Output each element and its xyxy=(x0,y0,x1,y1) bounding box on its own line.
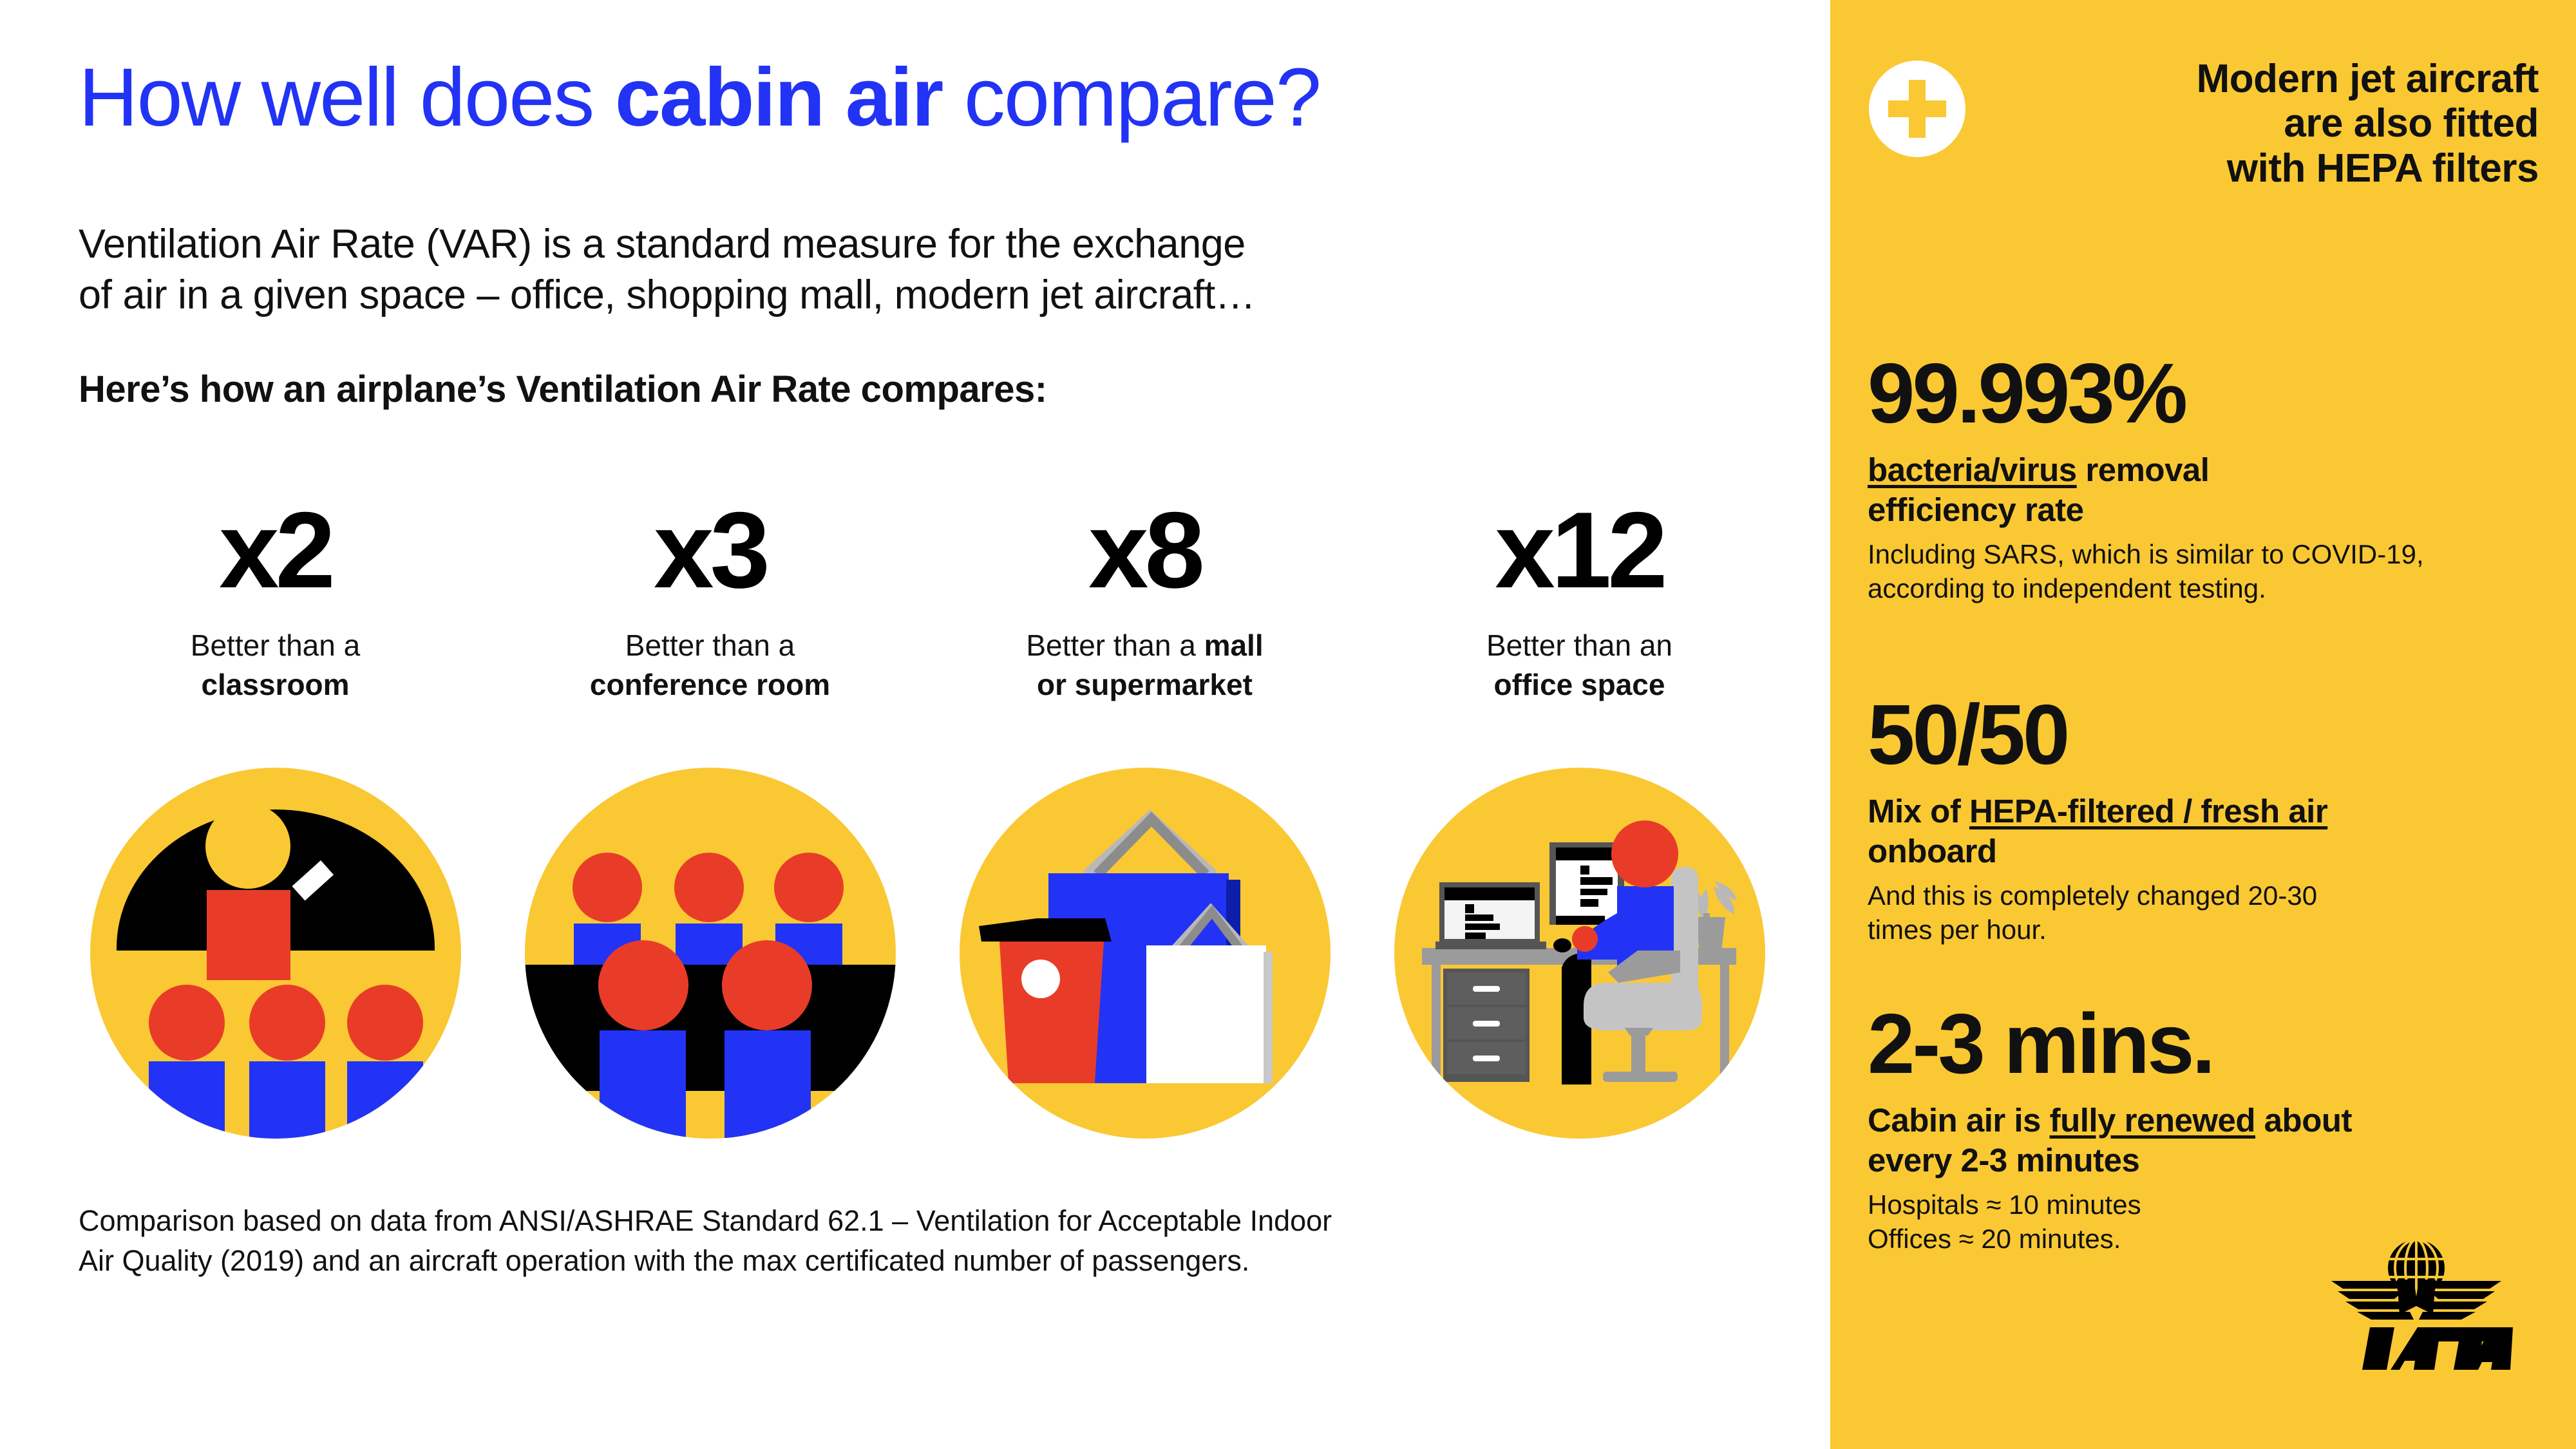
mall-illustration xyxy=(958,766,1332,1140)
fact-bold-efficiency: bacteria/virus removal efficiency rate xyxy=(1868,450,2550,530)
page-title-prefix: How well does xyxy=(79,52,615,144)
fact-bold-rest-efficiency: removal xyxy=(2077,451,2210,488)
sidebar-header-text: Modern jet aircraft are also fitted with… xyxy=(1987,57,2539,191)
stat-caption-line2: office space xyxy=(1494,668,1665,701)
sidebar-header-line-2: are also fitted xyxy=(2284,101,2539,146)
fact-bold-line2-air-mix: onboard xyxy=(1868,833,1996,869)
lede-paragraph: Ventilation Air Rate (VAR) is a standard… xyxy=(79,219,1255,321)
conference-room-illustration xyxy=(524,766,897,1140)
fact-number-air-renewal: 2-3 mins. xyxy=(1868,1001,2550,1086)
lede-line-1: Ventilation Air Rate (VAR) is a standard… xyxy=(79,219,1255,270)
stat-conference-room: x3 Better than a conference room xyxy=(493,496,927,704)
stat-caption-line1: Better than an xyxy=(1486,629,1672,662)
stat-caption-line1-plain: Better than a xyxy=(1026,629,1204,662)
stat-multiplier-mall: x8 xyxy=(927,496,1362,604)
fact-small-line-1: Including SARS, which is similar to COVI… xyxy=(1868,539,2424,569)
office-illustration xyxy=(1393,766,1766,1140)
main-content-panel: How well does cabin air compare? Ventila… xyxy=(0,0,1830,1449)
stat-classroom: x2 Better than a classroom xyxy=(58,496,493,704)
footnote-line-1: Comparison based on data from ANSI/ASHRA… xyxy=(79,1204,1332,1237)
page-title-suffix: compare? xyxy=(942,52,1320,144)
stat-multiplier-office: x12 xyxy=(1362,496,1797,604)
stat-caption-line2: conference room xyxy=(590,668,830,701)
fact-number-efficiency: 99.993% xyxy=(1868,351,2550,436)
fact-bold-rest-air-renewal: about xyxy=(2255,1102,2352,1139)
stat-caption-conference-room: Better than a conference room xyxy=(493,626,927,704)
sidebar-header-line-3: with HEPA filters xyxy=(2227,146,2539,191)
page-title-emphasis: cabin air xyxy=(615,52,942,144)
plus-icon xyxy=(1869,61,1965,157)
fact-hepa-efficiency: 99.993% bacteria/virus removal efficienc… xyxy=(1868,351,2550,606)
fact-small-line-2: according to independent testing. xyxy=(1868,573,2266,603)
fact-air-renewal: 2-3 mins. Cabin air is fully renewed abo… xyxy=(1868,1001,2550,1256)
sidebar-header-line-1: Modern jet aircraft xyxy=(2197,57,2539,101)
stat-multiplier-conference-room: x3 xyxy=(493,496,927,604)
classroom-illustration xyxy=(89,766,462,1140)
fact-bold-pre-air-mix: Mix of xyxy=(1868,793,1969,829)
sidebar-panel: Modern jet aircraft are also fitted with… xyxy=(1830,0,2576,1449)
page-title: How well does cabin air compare? xyxy=(79,57,1320,139)
fact-number-air-mix: 50/50 xyxy=(1868,692,2550,777)
stat-caption-classroom: Better than a classroom xyxy=(58,626,493,704)
stat-caption-line1: Better than a xyxy=(625,629,795,662)
fact-underline-efficiency: bacteria/virus xyxy=(1868,451,2077,488)
illustrations-row xyxy=(58,766,1797,1140)
fact-small-line-1: And this is completely changed 20-30 xyxy=(1868,880,2317,911)
fact-underline-air-renewal: fully renewed xyxy=(2050,1102,2255,1139)
iata-logo xyxy=(2320,1227,2513,1375)
fact-small-line-2: times per hour. xyxy=(1868,914,2047,945)
stat-mall: x8 Better than a mall or supermarket xyxy=(927,496,1362,704)
infographic-page: How well does cabin air compare? Ventila… xyxy=(0,0,2576,1449)
fact-air-mix: 50/50 Mix of HEPA-filtered / fresh air o… xyxy=(1868,692,2550,947)
fact-small-line-1: Hospitals ≈ 10 minutes xyxy=(1868,1189,2141,1220)
fact-small-efficiency: Including SARS, which is similar to COVI… xyxy=(1868,538,2550,606)
sidebar-header: Modern jet aircraft are also fitted with… xyxy=(1869,57,2539,191)
section-subheading: Here’s how an airplane’s Ventilation Air… xyxy=(79,367,1047,412)
fact-bold-line2-air-renewal: every 2-3 minutes xyxy=(1868,1142,2139,1179)
stat-caption-line2: classroom xyxy=(201,668,349,701)
fact-bold-air-mix: Mix of HEPA-filtered / fresh air onboard xyxy=(1868,791,2550,871)
fact-small-line-2: Offices ≈ 20 minutes. xyxy=(1868,1224,2121,1254)
fact-bold-air-renewal: Cabin air is fully renewed about every 2… xyxy=(1868,1101,2550,1180)
fact-bold-line2-efficiency: efficiency rate xyxy=(1868,491,2084,528)
stat-caption-line2: or supermarket xyxy=(1037,668,1253,701)
stat-caption-mall: Better than a mall or supermarket xyxy=(927,626,1362,704)
stat-caption-line1-bold: mall xyxy=(1204,629,1264,662)
stat-caption-office: Better than an office space xyxy=(1362,626,1797,704)
lede-line-2: of air in a given space – office, shoppi… xyxy=(79,270,1255,321)
fact-small-air-mix: And this is completely changed 20-30 tim… xyxy=(1868,879,2550,947)
footnote: Comparison based on data from ANSI/ASHRA… xyxy=(79,1201,1332,1281)
multiplier-stats-row: x2 Better than a classroom x3 Better tha… xyxy=(58,496,1797,704)
footnote-line-2: Air Quality (2019) and an aircraft opera… xyxy=(79,1244,1249,1277)
stat-office: x12 Better than an office space xyxy=(1362,496,1797,704)
fact-bold-pre-air-renewal: Cabin air is xyxy=(1868,1102,2050,1139)
stat-caption-line1: Better than a xyxy=(191,629,360,662)
fact-underline-air-mix: HEPA-filtered / fresh air xyxy=(1969,793,2327,829)
stat-multiplier-classroom: x2 xyxy=(58,496,493,604)
